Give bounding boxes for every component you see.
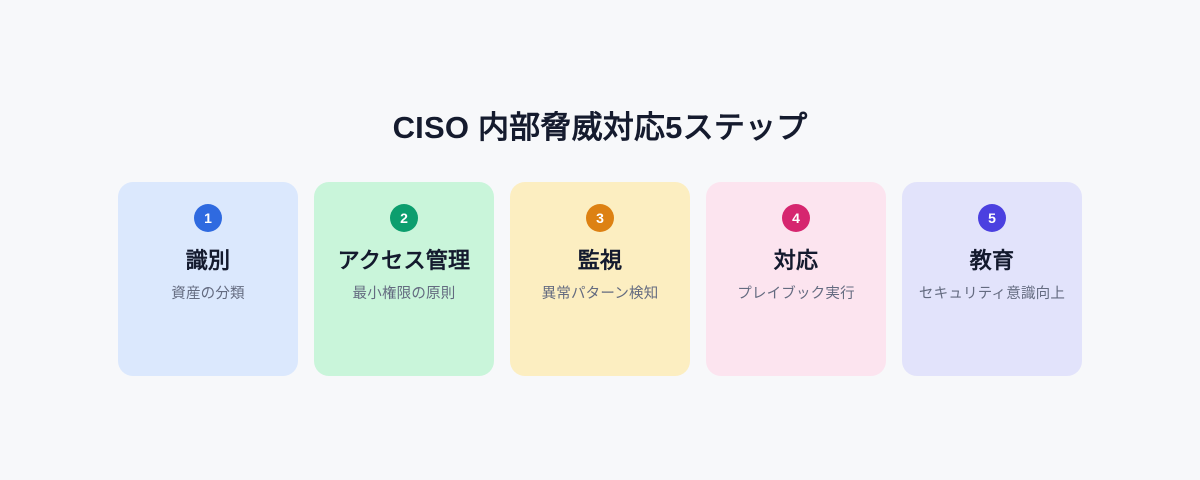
- step-card-3[interactable]: 3 監視 異常パターン検知: [510, 182, 690, 376]
- step-number-badge-5: 5: [978, 204, 1006, 232]
- step-title-4: 対応: [774, 246, 819, 276]
- step-title-1: 識別: [186, 246, 231, 276]
- step-description-2: 最小権限の原則: [353, 282, 456, 307]
- step-number-badge-2: 2: [390, 204, 418, 232]
- step-number-badge-1: 1: [194, 204, 222, 232]
- page-title: CISO 内部脅威対応5ステップ: [0, 108, 1200, 148]
- step-title-2: アクセス管理: [338, 246, 471, 276]
- step-number-badge-3: 3: [586, 204, 614, 232]
- step-card-1[interactable]: 1 識別 資産の分類: [118, 182, 298, 376]
- step-title-3: 監視: [578, 246, 623, 276]
- step-card-4[interactable]: 4 対応 プレイブック実行: [706, 182, 886, 376]
- step-card-2[interactable]: 2 アクセス管理 最小権限の原則: [314, 182, 494, 376]
- infographic-root: CISO 内部脅威対応5ステップ 1 識別 資産の分類 2 アクセス管理 最小権…: [0, 0, 1200, 480]
- step-description-1: 資産の分類: [171, 282, 245, 307]
- step-description-3: 異常パターン検知: [542, 282, 659, 307]
- step-title-5: 教育: [970, 246, 1015, 276]
- step-card-5[interactable]: 5 教育 セキュリティ意識向上: [902, 182, 1082, 376]
- step-number-badge-4: 4: [782, 204, 810, 232]
- step-description-5: セキュリティ意識向上: [919, 282, 1065, 307]
- steps-row: 1 識別 資産の分類 2 アクセス管理 最小権限の原則 3 監視 異常パターン検…: [118, 182, 1082, 376]
- step-description-4: プレイブック実行: [737, 282, 855, 307]
